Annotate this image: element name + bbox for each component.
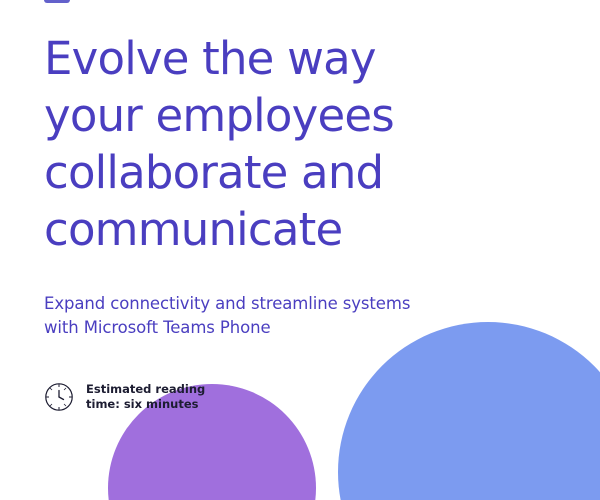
reading-time-block: Estimated reading time: six minutes: [44, 382, 474, 412]
subtitle: Expand connectivity and streamline syste…: [44, 292, 474, 340]
reading-time-label: Estimated reading time: six minutes: [86, 382, 205, 412]
document-content: Evolve the way your employees collaborat…: [44, 30, 474, 412]
brand-mark-icon: [44, 0, 70, 11]
page-title: Evolve the way your employees collaborat…: [44, 30, 474, 258]
clock-icon: [44, 382, 74, 412]
document-page: Evolve the way your employees collaborat…: [0, 0, 600, 500]
